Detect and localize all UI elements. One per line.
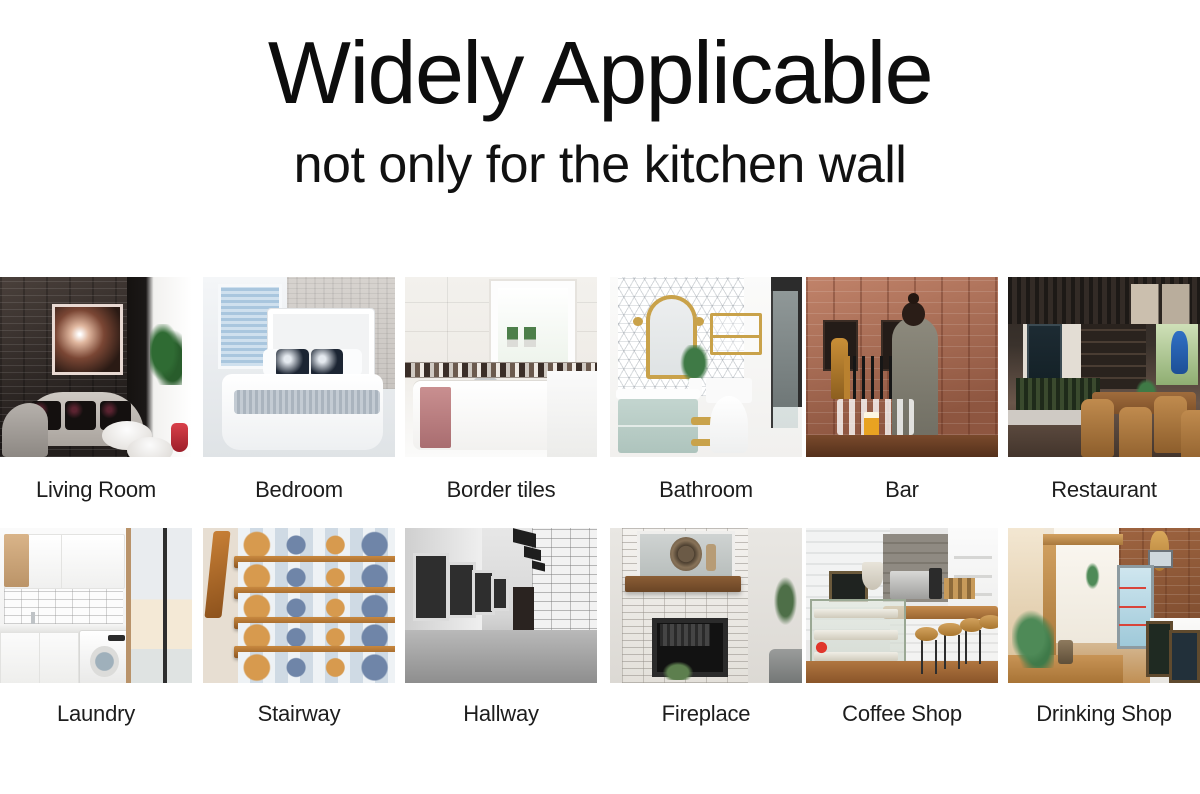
thumbnail-fireplace bbox=[610, 528, 802, 683]
card-coffee-shop[interactable]: Coffee Shop bbox=[806, 528, 998, 725]
application-grid: Living Room Bedroom bbox=[0, 277, 1200, 528]
pillow bbox=[65, 401, 96, 430]
card-label-bar: Bar bbox=[806, 479, 998, 501]
card-laundry[interactable]: Laundry bbox=[0, 528, 192, 725]
card-bathroom[interactable]: Bathroom bbox=[610, 277, 802, 501]
thumbnail-laundry bbox=[0, 528, 192, 683]
espresso-machine bbox=[890, 571, 932, 599]
subway-tile-backsplash bbox=[4, 587, 123, 624]
card-label-drinking-shop: Drinking Shop bbox=[1008, 703, 1200, 725]
thumbnail-drinking-shop bbox=[1008, 528, 1200, 683]
card-bar[interactable]: Bar bbox=[806, 277, 998, 501]
card-label-fireplace: Fireplace bbox=[610, 703, 802, 725]
floor bbox=[806, 661, 998, 683]
bathroom-photo bbox=[610, 277, 802, 457]
stair-step bbox=[238, 562, 395, 593]
page-subtitle: not only for the kitchen wall bbox=[0, 137, 1200, 193]
wall-sconce bbox=[694, 317, 704, 326]
card-label-restaurant: Restaurant bbox=[1008, 479, 1200, 501]
floor bbox=[405, 630, 597, 683]
bar-stool bbox=[979, 615, 998, 629]
window-mullion bbox=[163, 528, 167, 683]
window bbox=[413, 553, 450, 621]
window bbox=[491, 281, 574, 371]
stair-step bbox=[238, 652, 395, 683]
card-border-tiles[interactable]: Border tiles bbox=[405, 277, 597, 501]
stool-leg bbox=[944, 635, 946, 669]
living-room-photo bbox=[0, 277, 192, 457]
card-label-bedroom: Bedroom bbox=[203, 479, 395, 501]
base-cabinets bbox=[0, 632, 79, 683]
card-label-bathroom: Bathroom bbox=[610, 479, 802, 501]
stair-step bbox=[238, 593, 395, 622]
red-vase bbox=[171, 423, 188, 452]
thumbnail-coffee-shop bbox=[806, 528, 998, 683]
washer-panel bbox=[108, 635, 125, 641]
stool-leg bbox=[965, 630, 967, 664]
juice-bottles bbox=[812, 640, 831, 656]
coffee-grinder bbox=[929, 568, 942, 599]
thumbnail-bar bbox=[806, 277, 998, 457]
patterned-riser bbox=[238, 652, 395, 683]
drinking-shop-photo bbox=[1008, 528, 1200, 683]
coffee-shop-photo bbox=[806, 528, 998, 683]
pastry-tray bbox=[814, 630, 898, 639]
page-title: Widely Applicable bbox=[0, 26, 1200, 119]
card-label-living-room: Living Room bbox=[0, 479, 192, 501]
wall-sconce bbox=[633, 317, 643, 326]
card-restaurant[interactable]: Restaurant bbox=[1008, 277, 1200, 501]
bedroom-photo bbox=[203, 277, 395, 457]
thumbnail-restaurant bbox=[1008, 277, 1200, 457]
hallway-photo bbox=[405, 528, 597, 683]
card-drinking-shop[interactable]: Drinking Shop bbox=[1008, 528, 1200, 725]
gold-shelf bbox=[710, 313, 762, 355]
chair bbox=[1119, 407, 1152, 457]
plant bbox=[150, 324, 183, 385]
beer-taps bbox=[844, 356, 894, 399]
card-bedroom[interactable]: Bedroom bbox=[203, 277, 395, 501]
bartender-head bbox=[902, 302, 925, 325]
scale bbox=[862, 562, 883, 590]
fridge-shelf bbox=[1119, 624, 1146, 626]
heading-block: Widely Applicable not only for the kitch… bbox=[0, 0, 1200, 193]
plant bbox=[1012, 606, 1054, 668]
restaurant-photo bbox=[1008, 277, 1200, 457]
door-lintel bbox=[1043, 534, 1124, 545]
chair bbox=[1081, 399, 1114, 457]
decor-vase bbox=[706, 544, 716, 572]
pastry-tray bbox=[814, 609, 898, 618]
tub-ledge bbox=[547, 371, 597, 457]
fridge-shelf bbox=[1119, 606, 1146, 608]
stairway-photo bbox=[203, 528, 395, 683]
chalkboard-menu bbox=[1169, 630, 1200, 683]
promo-banner: Widely Applicable not only for the kitch… bbox=[0, 0, 1200, 794]
handrail bbox=[204, 531, 230, 618]
border-tiles-photo bbox=[405, 277, 597, 457]
washer-door bbox=[90, 646, 119, 677]
potted-plant bbox=[524, 327, 536, 347]
stool-leg bbox=[958, 635, 960, 669]
stair-step bbox=[238, 623, 395, 652]
towel bbox=[420, 387, 451, 448]
grid-row-1: Living Room Bedroom bbox=[0, 277, 1200, 528]
armchair bbox=[2, 403, 48, 457]
card-fireplace[interactable]: Fireplace bbox=[610, 528, 802, 725]
throw-blanket bbox=[234, 390, 380, 413]
card-label-laundry: Laundry bbox=[0, 703, 192, 725]
fridge-shelf bbox=[1119, 587, 1146, 589]
wall-frames bbox=[1131, 284, 1196, 324]
card-hallway[interactable]: Hallway bbox=[405, 528, 597, 725]
fireplace-photo bbox=[610, 528, 802, 683]
stool-leg bbox=[935, 640, 937, 674]
card-living-room[interactable]: Living Room bbox=[0, 277, 192, 501]
framed-art bbox=[52, 304, 123, 375]
wall-shelf bbox=[954, 556, 992, 559]
grid-row-2: Laundry bbox=[0, 528, 1200, 754]
fire-grate bbox=[660, 624, 710, 646]
card-stairway[interactable]: Stairway bbox=[203, 528, 395, 725]
surfboard bbox=[1171, 331, 1188, 374]
bar-stool bbox=[938, 623, 961, 637]
thumbnail-living-room bbox=[0, 277, 192, 457]
vanity-cabinet bbox=[618, 399, 699, 453]
potted-plant bbox=[507, 327, 519, 347]
card-label-border-tiles: Border tiles bbox=[405, 479, 597, 501]
countertop bbox=[616, 389, 700, 400]
card-label-hallway: Hallway bbox=[405, 703, 597, 725]
window bbox=[491, 576, 509, 611]
thumbnail-border-tiles bbox=[405, 277, 597, 457]
stool-leg bbox=[921, 640, 923, 674]
side-table bbox=[127, 437, 173, 457]
card-label-coffee-shop: Coffee Shop bbox=[806, 703, 998, 725]
wood-cabinet bbox=[4, 534, 29, 587]
wood-mantel bbox=[625, 576, 740, 592]
sofa bbox=[769, 649, 802, 683]
thumbnail-stairway bbox=[203, 528, 395, 683]
wall-cactus-decor bbox=[1085, 562, 1100, 590]
stool-leg bbox=[979, 630, 981, 664]
bar-counter bbox=[806, 435, 998, 457]
chair bbox=[1181, 410, 1200, 457]
stair-step bbox=[238, 528, 395, 562]
bar-photo bbox=[806, 277, 998, 457]
wood-stump-stool bbox=[1058, 640, 1073, 665]
toilet bbox=[710, 396, 748, 454]
thumbnail-bathroom bbox=[610, 277, 802, 457]
laundry-photo bbox=[0, 528, 192, 683]
card-label-stairway: Stairway bbox=[203, 703, 395, 725]
plant bbox=[773, 575, 798, 628]
window bbox=[126, 528, 192, 683]
shower-glass bbox=[771, 291, 798, 428]
tile-seam bbox=[447, 277, 448, 363]
thumbnail-bedroom bbox=[203, 277, 395, 457]
thumbnail-hallway bbox=[405, 528, 597, 683]
greenery bbox=[662, 661, 695, 680]
jars bbox=[944, 578, 975, 600]
